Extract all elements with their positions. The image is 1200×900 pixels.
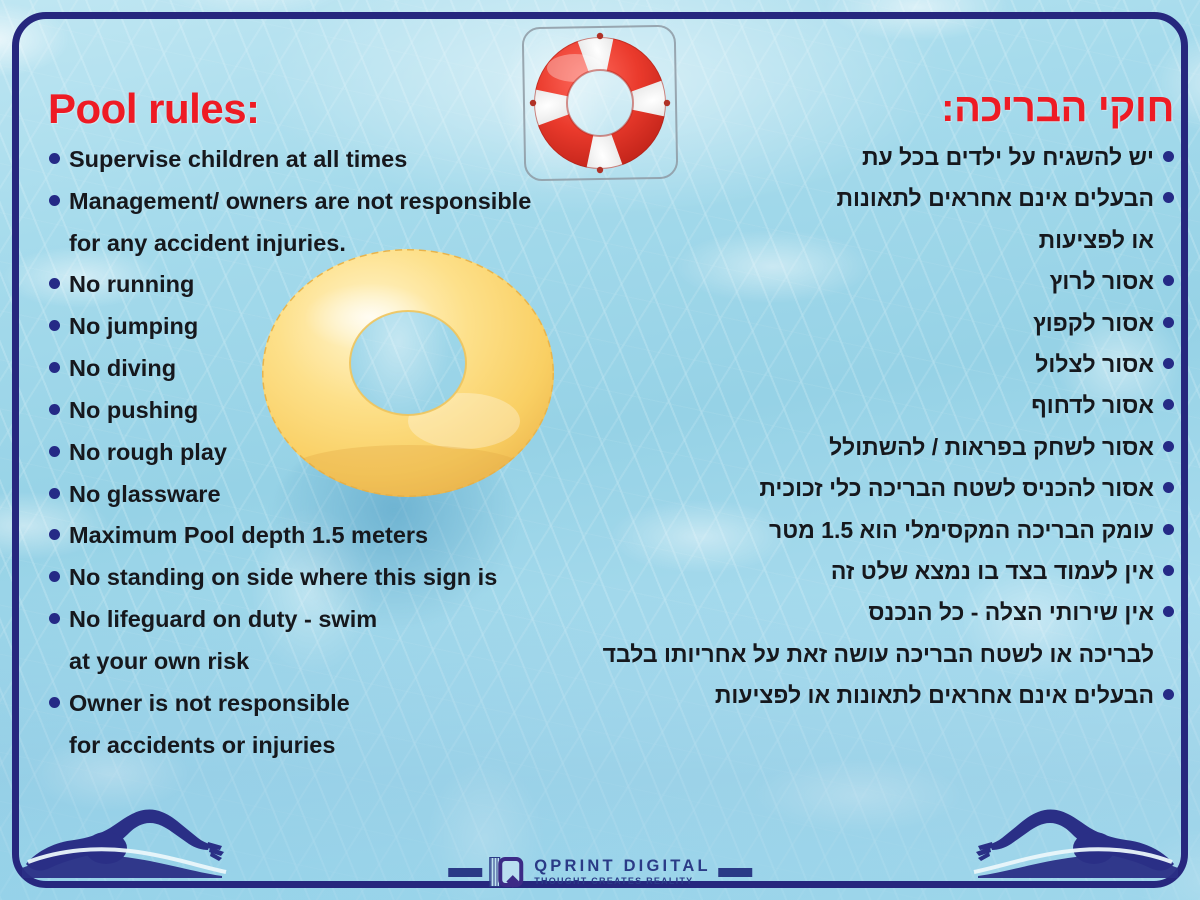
bullet-dot-icon xyxy=(49,362,60,373)
rule-text: אסור לדחוף xyxy=(1031,392,1154,418)
bullet-dot-icon xyxy=(1163,317,1174,328)
list-item: אסור לצלול xyxy=(614,344,1174,385)
rule-text: אסור לצלול xyxy=(1035,351,1154,377)
list-item: at your own risk xyxy=(48,641,648,683)
logo-q-shape xyxy=(498,857,523,887)
bullet-dot-icon xyxy=(1163,689,1174,700)
rule-text: לבריכה או לשטח הבריכה עושה זאת על אחריות… xyxy=(603,641,1154,667)
english-title: Pool rules: xyxy=(48,88,648,130)
list-item: Maximum Pool depth 1.5 meters xyxy=(48,515,648,557)
bullet-dot-icon xyxy=(1163,606,1174,617)
rule-text: עומק הבריכה המקסימלי הוא 1.5 מטר xyxy=(769,517,1154,543)
logo-left-bar xyxy=(448,868,482,877)
bullet-dot-icon xyxy=(1163,524,1174,535)
list-item: No lifeguard on duty - swim xyxy=(48,599,648,641)
rule-text: אסור לשחק בפראות / להשתולל xyxy=(829,434,1154,460)
rule-text: אסור לרוץ xyxy=(1050,268,1154,294)
list-item: Supervise children at all times xyxy=(48,139,648,181)
logo-text-block: QPRINT DIGITAL THOUGHT CREATES REALITY xyxy=(534,858,711,887)
list-item: אין שירותי הצלה - כל הנכנס xyxy=(614,592,1174,633)
logo-right-bar xyxy=(718,868,752,877)
list-item: יש להשגיח על ילדים בכל עת xyxy=(614,137,1174,178)
list-item: for any accident injuries. xyxy=(48,223,648,265)
english-rules-column: Pool rules: Supervise children at all ti… xyxy=(48,88,648,766)
qprint-digital-logo: QPRINT DIGITAL THOUGHT CREATES REALITY xyxy=(448,852,752,892)
bullet-dot-icon xyxy=(1163,482,1174,493)
list-item: for accidents or injuries xyxy=(48,725,648,767)
list-item: No diving xyxy=(48,348,648,390)
rule-text: יש להשגיח על ילדים בכל עת xyxy=(862,144,1154,170)
list-item: לבריכה או לשטח הבריכה עושה זאת על אחריות… xyxy=(614,634,1174,675)
list-item: No running xyxy=(48,264,648,306)
list-item: Management/ owners are not responsible xyxy=(48,181,648,223)
q-logo-icon xyxy=(489,856,527,888)
bullet-dot-icon xyxy=(49,488,60,499)
rule-text: הבעלים אינם אחראים לתאונות או לפציעות xyxy=(715,682,1154,708)
rule-text: No rough play xyxy=(69,439,227,465)
bullet-dot-icon xyxy=(1163,441,1174,452)
list-item: אין לעמוד בצד בו נמצא שלט זה xyxy=(614,551,1174,592)
rule-text: No standing on side where this sign is xyxy=(69,564,497,590)
bullet-dot-icon xyxy=(49,404,60,415)
rule-text: Supervise children at all times xyxy=(69,146,407,172)
rule-text: No diving xyxy=(69,355,176,381)
list-item: No rough play xyxy=(48,432,648,474)
rule-text: No running xyxy=(69,271,194,297)
list-item: הבעלים אינם אחראים לתאונות או לפציעות xyxy=(614,675,1174,716)
bullet-dot-icon xyxy=(1163,192,1174,203)
rule-text: אין שירותי הצלה - כל הנכנס xyxy=(868,599,1154,625)
rule-text: No jumping xyxy=(69,313,198,339)
list-item: אסור לשחק בפראות / להשתולל xyxy=(614,427,1174,468)
list-item: או לפציעות xyxy=(614,220,1174,261)
bullet-dot-icon xyxy=(1163,399,1174,410)
rule-text: אסור להכניס לשטח הבריכה כלי זכוכית xyxy=(759,475,1154,501)
bullet-dot-icon xyxy=(49,697,60,708)
bullet-dot-icon xyxy=(49,529,60,540)
rule-text: או לפציעות xyxy=(1039,227,1154,253)
pool-rules-sign: Pool rules: Supervise children at all ti… xyxy=(0,0,1200,900)
bullet-dot-icon xyxy=(1163,565,1174,576)
bullet-dot-icon xyxy=(49,153,60,164)
list-item: No standing on side where this sign is xyxy=(48,557,648,599)
list-item: Owner is not responsible xyxy=(48,683,648,725)
bullet-dot-icon xyxy=(49,571,60,582)
bullet-dot-icon xyxy=(49,446,60,457)
rule-text: No glassware xyxy=(69,481,221,507)
hebrew-rules-list: יש להשגיח על ילדים בכל עת הבעלים אינם אח… xyxy=(614,137,1174,716)
rule-text: for accidents or injuries xyxy=(69,732,335,758)
rule-text: הבעלים אינם אחראים לתאונות xyxy=(837,185,1154,211)
rule-text: for any accident injuries. xyxy=(69,230,346,256)
rule-text: No pushing xyxy=(69,397,198,423)
list-item: עומק הבריכה המקסימלי הוא 1.5 מטר xyxy=(614,510,1174,551)
hebrew-title: חוקי הבריכה: xyxy=(614,88,1174,128)
list-item: הבעלים אינם אחראים לתאונות xyxy=(614,178,1174,219)
list-item: אסור לקפוץ xyxy=(614,303,1174,344)
rule-text: Maximum Pool depth 1.5 meters xyxy=(69,522,428,548)
rule-text: No lifeguard on duty - swim xyxy=(69,606,377,632)
bullet-dot-icon xyxy=(49,195,60,206)
bullet-dot-icon xyxy=(49,278,60,289)
rule-text: at your own risk xyxy=(69,648,249,674)
list-item: No pushing xyxy=(48,390,648,432)
logo-tagline: THOUGHT CREATES REALITY xyxy=(534,877,711,886)
rule-text: Owner is not responsible xyxy=(69,690,350,716)
bullet-dot-icon xyxy=(49,613,60,624)
list-item: אסור להכניס לשטח הבריכה כלי זכוכית xyxy=(614,468,1174,509)
list-item: No jumping xyxy=(48,306,648,348)
list-item: אסור לדחוף xyxy=(614,385,1174,426)
bullet-dot-icon xyxy=(1163,358,1174,369)
english-rules-list: Supervise children at all times Manageme… xyxy=(48,139,648,766)
hebrew-rules-column: חוקי הבריכה: יש להשגיח על ילדים בכל עת ה… xyxy=(614,88,1174,716)
swimmer-icon xyxy=(22,790,232,878)
logo-brand-name: QPRINT DIGITAL xyxy=(534,858,711,875)
rule-text: Management/ owners are not responsible xyxy=(69,188,531,214)
bullet-dot-icon xyxy=(49,320,60,331)
list-item: No glassware xyxy=(48,474,648,516)
rule-text: אסור לקפוץ xyxy=(1033,310,1154,336)
swimmer-icon xyxy=(968,790,1178,878)
bullet-dot-icon xyxy=(1163,151,1174,162)
bullet-dot-icon xyxy=(1163,275,1174,286)
rule-text: אין לעמוד בצד בו נמצא שלט זה xyxy=(831,558,1154,584)
list-item: אסור לרוץ xyxy=(614,261,1174,302)
